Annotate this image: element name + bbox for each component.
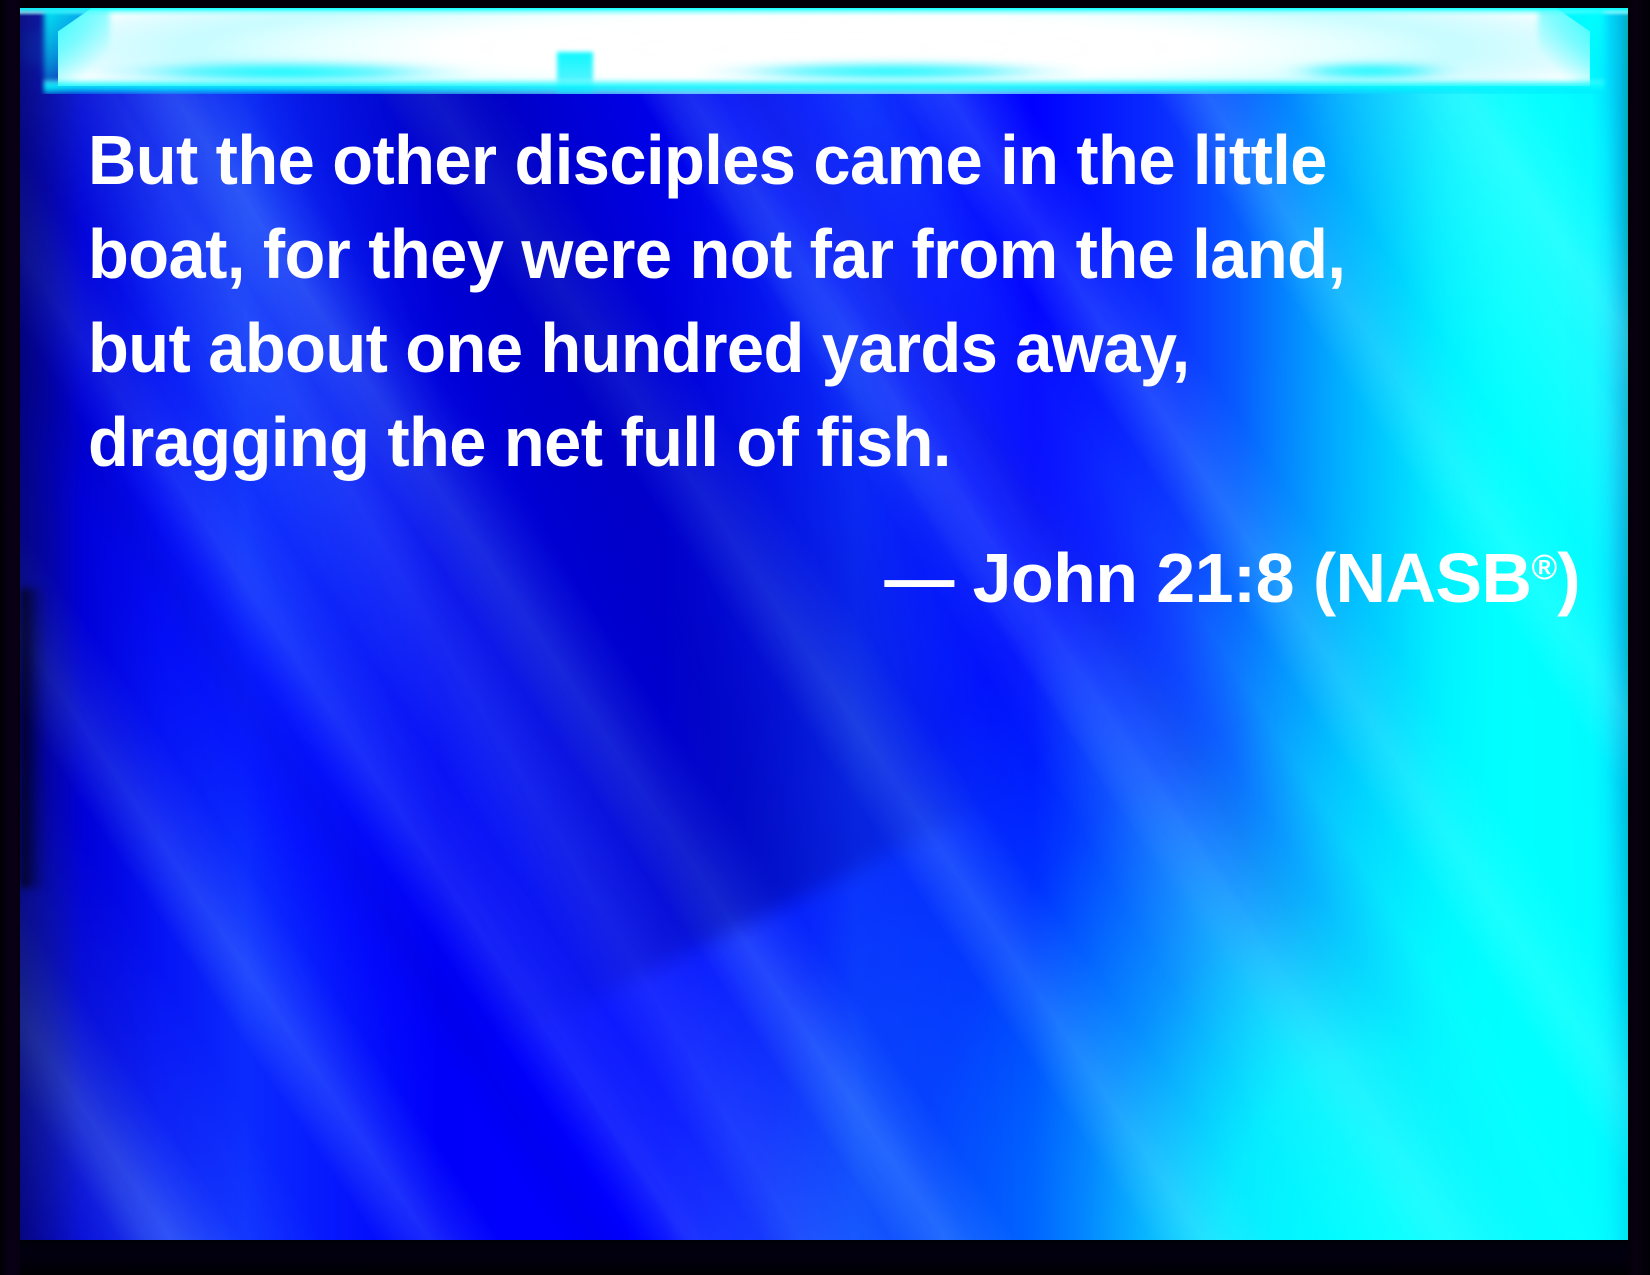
attribution-suffix: ) bbox=[1557, 539, 1580, 617]
banner-left-corner bbox=[44, 10, 110, 94]
verse-text-block: But the other disciples came in the litt… bbox=[88, 113, 1588, 625]
banner-cyan-wisp bbox=[1275, 61, 1465, 81]
top-light-banner bbox=[20, 8, 1628, 94]
slide-artwork: But the other disciples came in the litt… bbox=[20, 8, 1628, 1240]
verse-line-4: dragging the net full of fish. bbox=[88, 395, 1521, 489]
verse-attribution: — John 21:8 (NASB®) bbox=[88, 521, 1588, 625]
attribution-prefix: — John 21:8 (NASB bbox=[884, 539, 1531, 617]
banner-bottom-rim bbox=[44, 80, 1604, 94]
registered-trademark-icon: ® bbox=[1531, 548, 1557, 587]
verse-line-2: boat, for they were not far from the lan… bbox=[88, 207, 1521, 301]
frame-edge-bottom bbox=[0, 1240, 1650, 1275]
left-edge-notch bbox=[20, 588, 46, 888]
banner-top-rim bbox=[20, 8, 1628, 16]
frame-edge-left bbox=[0, 0, 20, 1275]
banner-right-corner bbox=[1538, 10, 1604, 94]
frame-edge-right bbox=[1628, 0, 1650, 1275]
verse-line-1: But the other disciples came in the litt… bbox=[88, 113, 1521, 207]
verse-line-3: but about one hundred yards away, bbox=[88, 301, 1521, 395]
verse-slide: But the other disciples came in the litt… bbox=[0, 0, 1650, 1275]
frame-edge-top bbox=[0, 0, 1650, 8]
